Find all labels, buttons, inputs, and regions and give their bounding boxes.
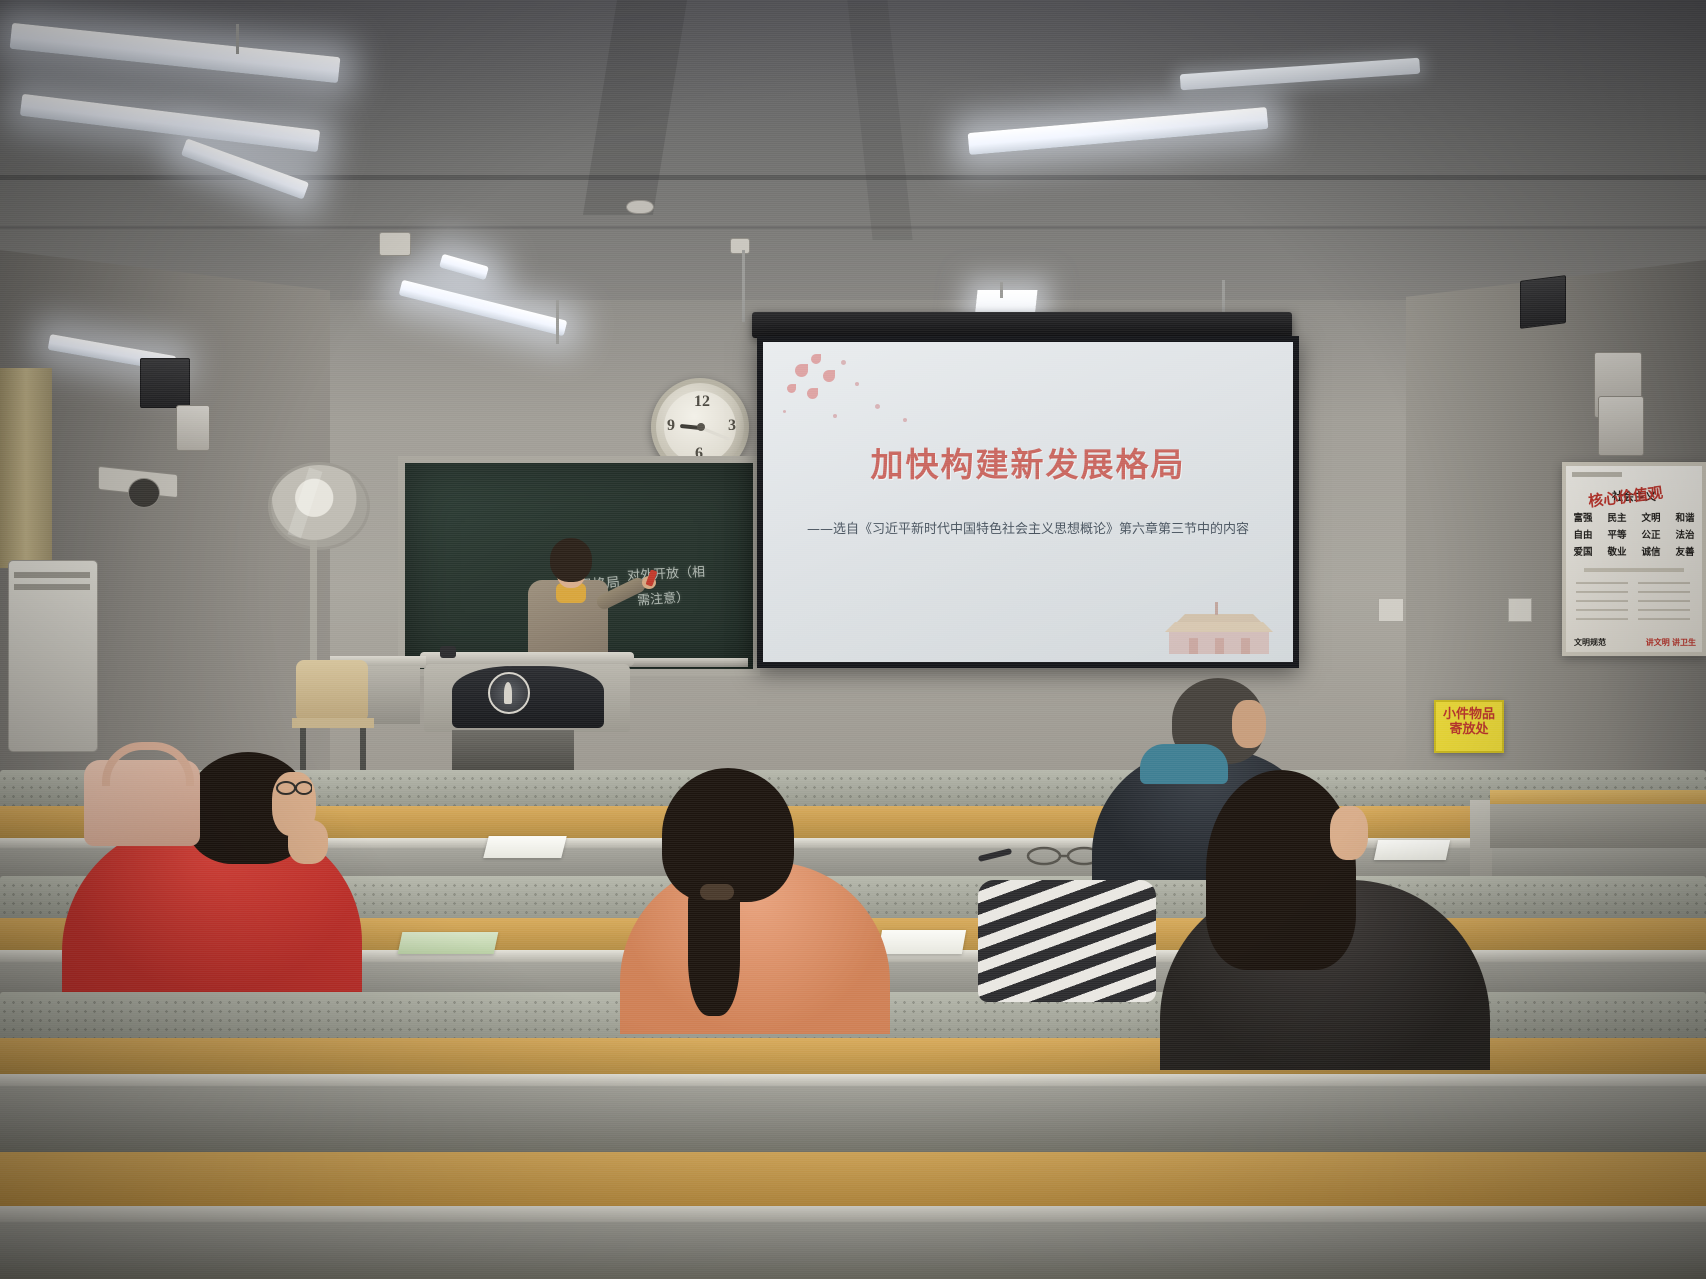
chair-leg	[360, 728, 366, 776]
wall-box-right	[1598, 396, 1644, 456]
storage-sign: 小件物品 寄放处	[1434, 700, 1504, 753]
poster-footer-right: 讲文明 讲卫生	[1646, 637, 1696, 648]
teacher-hair	[550, 538, 592, 582]
poster-text-block-left	[1576, 582, 1628, 626]
clock-center-pin	[697, 423, 705, 431]
ceiling-speaker	[140, 358, 190, 408]
slide-title: 加快构建新发展格局	[763, 438, 1293, 486]
hair-tie	[700, 884, 734, 900]
petal-dot	[833, 414, 837, 418]
poster-value: 诚信	[1641, 544, 1660, 558]
blossom-icon	[811, 354, 821, 364]
paper-sheet	[1374, 840, 1450, 860]
student-dark-jacket-face	[1232, 700, 1266, 748]
paper-sheet	[483, 836, 566, 858]
student-glasses-icon	[276, 780, 312, 796]
blossom-icon	[807, 388, 818, 399]
light-hanger	[236, 24, 239, 54]
petal-dot	[903, 418, 907, 422]
poster-footer-left: 文明规范	[1574, 637, 1606, 648]
camera-lens-icon	[128, 478, 160, 508]
poster-values-row-3: 爱国 敬业 诚信 友善	[1566, 544, 1702, 558]
ac-vent	[14, 572, 90, 578]
clock-number-3: 3	[728, 417, 736, 435]
student-collar	[1140, 744, 1228, 784]
blossom-icon	[823, 370, 835, 382]
poster-value: 和谐	[1675, 510, 1694, 524]
poster-topline	[1572, 472, 1622, 477]
poster-value: 民主	[1607, 510, 1626, 524]
chair-back	[296, 660, 368, 722]
petal-dot	[841, 360, 846, 365]
chair-leg	[300, 728, 306, 776]
poster-values-row-1: 富强 民主 文明 和谐	[1566, 510, 1702, 524]
classroom-scene: 12 3 6 9 新发展格局 对外开放（相 需注意） 加快构建新发展格局 ——选…	[0, 0, 1706, 1279]
ceiling-line	[0, 226, 1706, 229]
university-emblem-icon	[488, 672, 530, 714]
clock-number-12: 12	[694, 393, 710, 411]
blossom-icon	[795, 364, 808, 377]
poster-value: 文明	[1641, 510, 1660, 524]
poster-text-block-right	[1638, 582, 1690, 626]
petal-dot	[783, 410, 786, 413]
petal-dot	[855, 382, 859, 386]
poster-value: 爱国	[1573, 544, 1592, 558]
desk-row-2-front	[0, 1086, 1706, 1160]
ceiling-sensor	[379, 232, 411, 256]
slide-subtitle: ——选自《习近平新时代中国特色社会主义思想概论》第六章第三节中的内容	[763, 518, 1293, 537]
emblem-glyph	[504, 682, 512, 704]
petal-dot	[875, 404, 880, 409]
pink-handbag	[84, 760, 200, 846]
tiananmen-illustration-icon	[1159, 598, 1279, 658]
striped-bag	[978, 880, 1156, 1002]
student-long-hair-face	[1330, 806, 1368, 860]
projection-screen: 加快构建新发展格局 ——选自《习近平新时代中国特色社会主义思想概论》第六章第三节…	[757, 336, 1299, 668]
poster-header-red: 核心价值观	[1587, 482, 1664, 512]
desk-row-near-front	[0, 1222, 1706, 1279]
screen-case	[752, 312, 1292, 338]
wall-outlet	[1508, 598, 1532, 622]
side-desk-front	[1490, 804, 1706, 848]
core-values-poster: 社会主义 核心价值观 富强 民主 文明 和谐 自由 平等 公正 法治 爱国 敬业…	[1562, 462, 1706, 656]
wall-speaker	[176, 405, 210, 451]
poster-value: 公正	[1641, 527, 1660, 541]
light-hanger	[1000, 282, 1003, 298]
lectern-mic	[440, 646, 456, 658]
storage-sign-line-1: 小件物品	[1436, 707, 1502, 722]
chalk-note-right-2: 需注意）	[636, 586, 689, 609]
poster-values-row-2: 自由 平等 公正 法治	[1566, 527, 1702, 541]
student-long-hair-hair	[1206, 770, 1356, 970]
student-red-jacket-hand	[288, 820, 328, 864]
chair-seat	[292, 718, 374, 728]
conduit	[556, 300, 559, 344]
conduit	[742, 250, 745, 322]
wall-outlet	[1378, 598, 1404, 622]
poster-value: 敬业	[1607, 544, 1626, 558]
ac-vent	[14, 584, 90, 590]
window-curtain	[0, 368, 52, 568]
storage-sign-line-2: 寄放处	[1436, 722, 1502, 737]
ceiling-speaker-right	[1520, 275, 1566, 329]
desk-row-near-top	[0, 1152, 1706, 1212]
poster-value: 自由	[1573, 527, 1592, 541]
poster-divider	[1584, 568, 1684, 572]
blossom-icon	[787, 384, 796, 393]
ceiling-sensor	[730, 238, 750, 254]
poster-value: 平等	[1607, 527, 1626, 541]
smoke-detector	[626, 200, 654, 214]
paper-sheet	[878, 930, 966, 954]
poster-value: 法治	[1675, 527, 1694, 541]
bag-stripes	[978, 880, 1156, 1002]
poster-value: 友善	[1675, 544, 1694, 558]
green-booklet	[398, 932, 499, 954]
fan-pole	[310, 540, 317, 660]
poster-value: 富强	[1573, 510, 1592, 524]
clock-number-9: 9	[667, 417, 675, 435]
